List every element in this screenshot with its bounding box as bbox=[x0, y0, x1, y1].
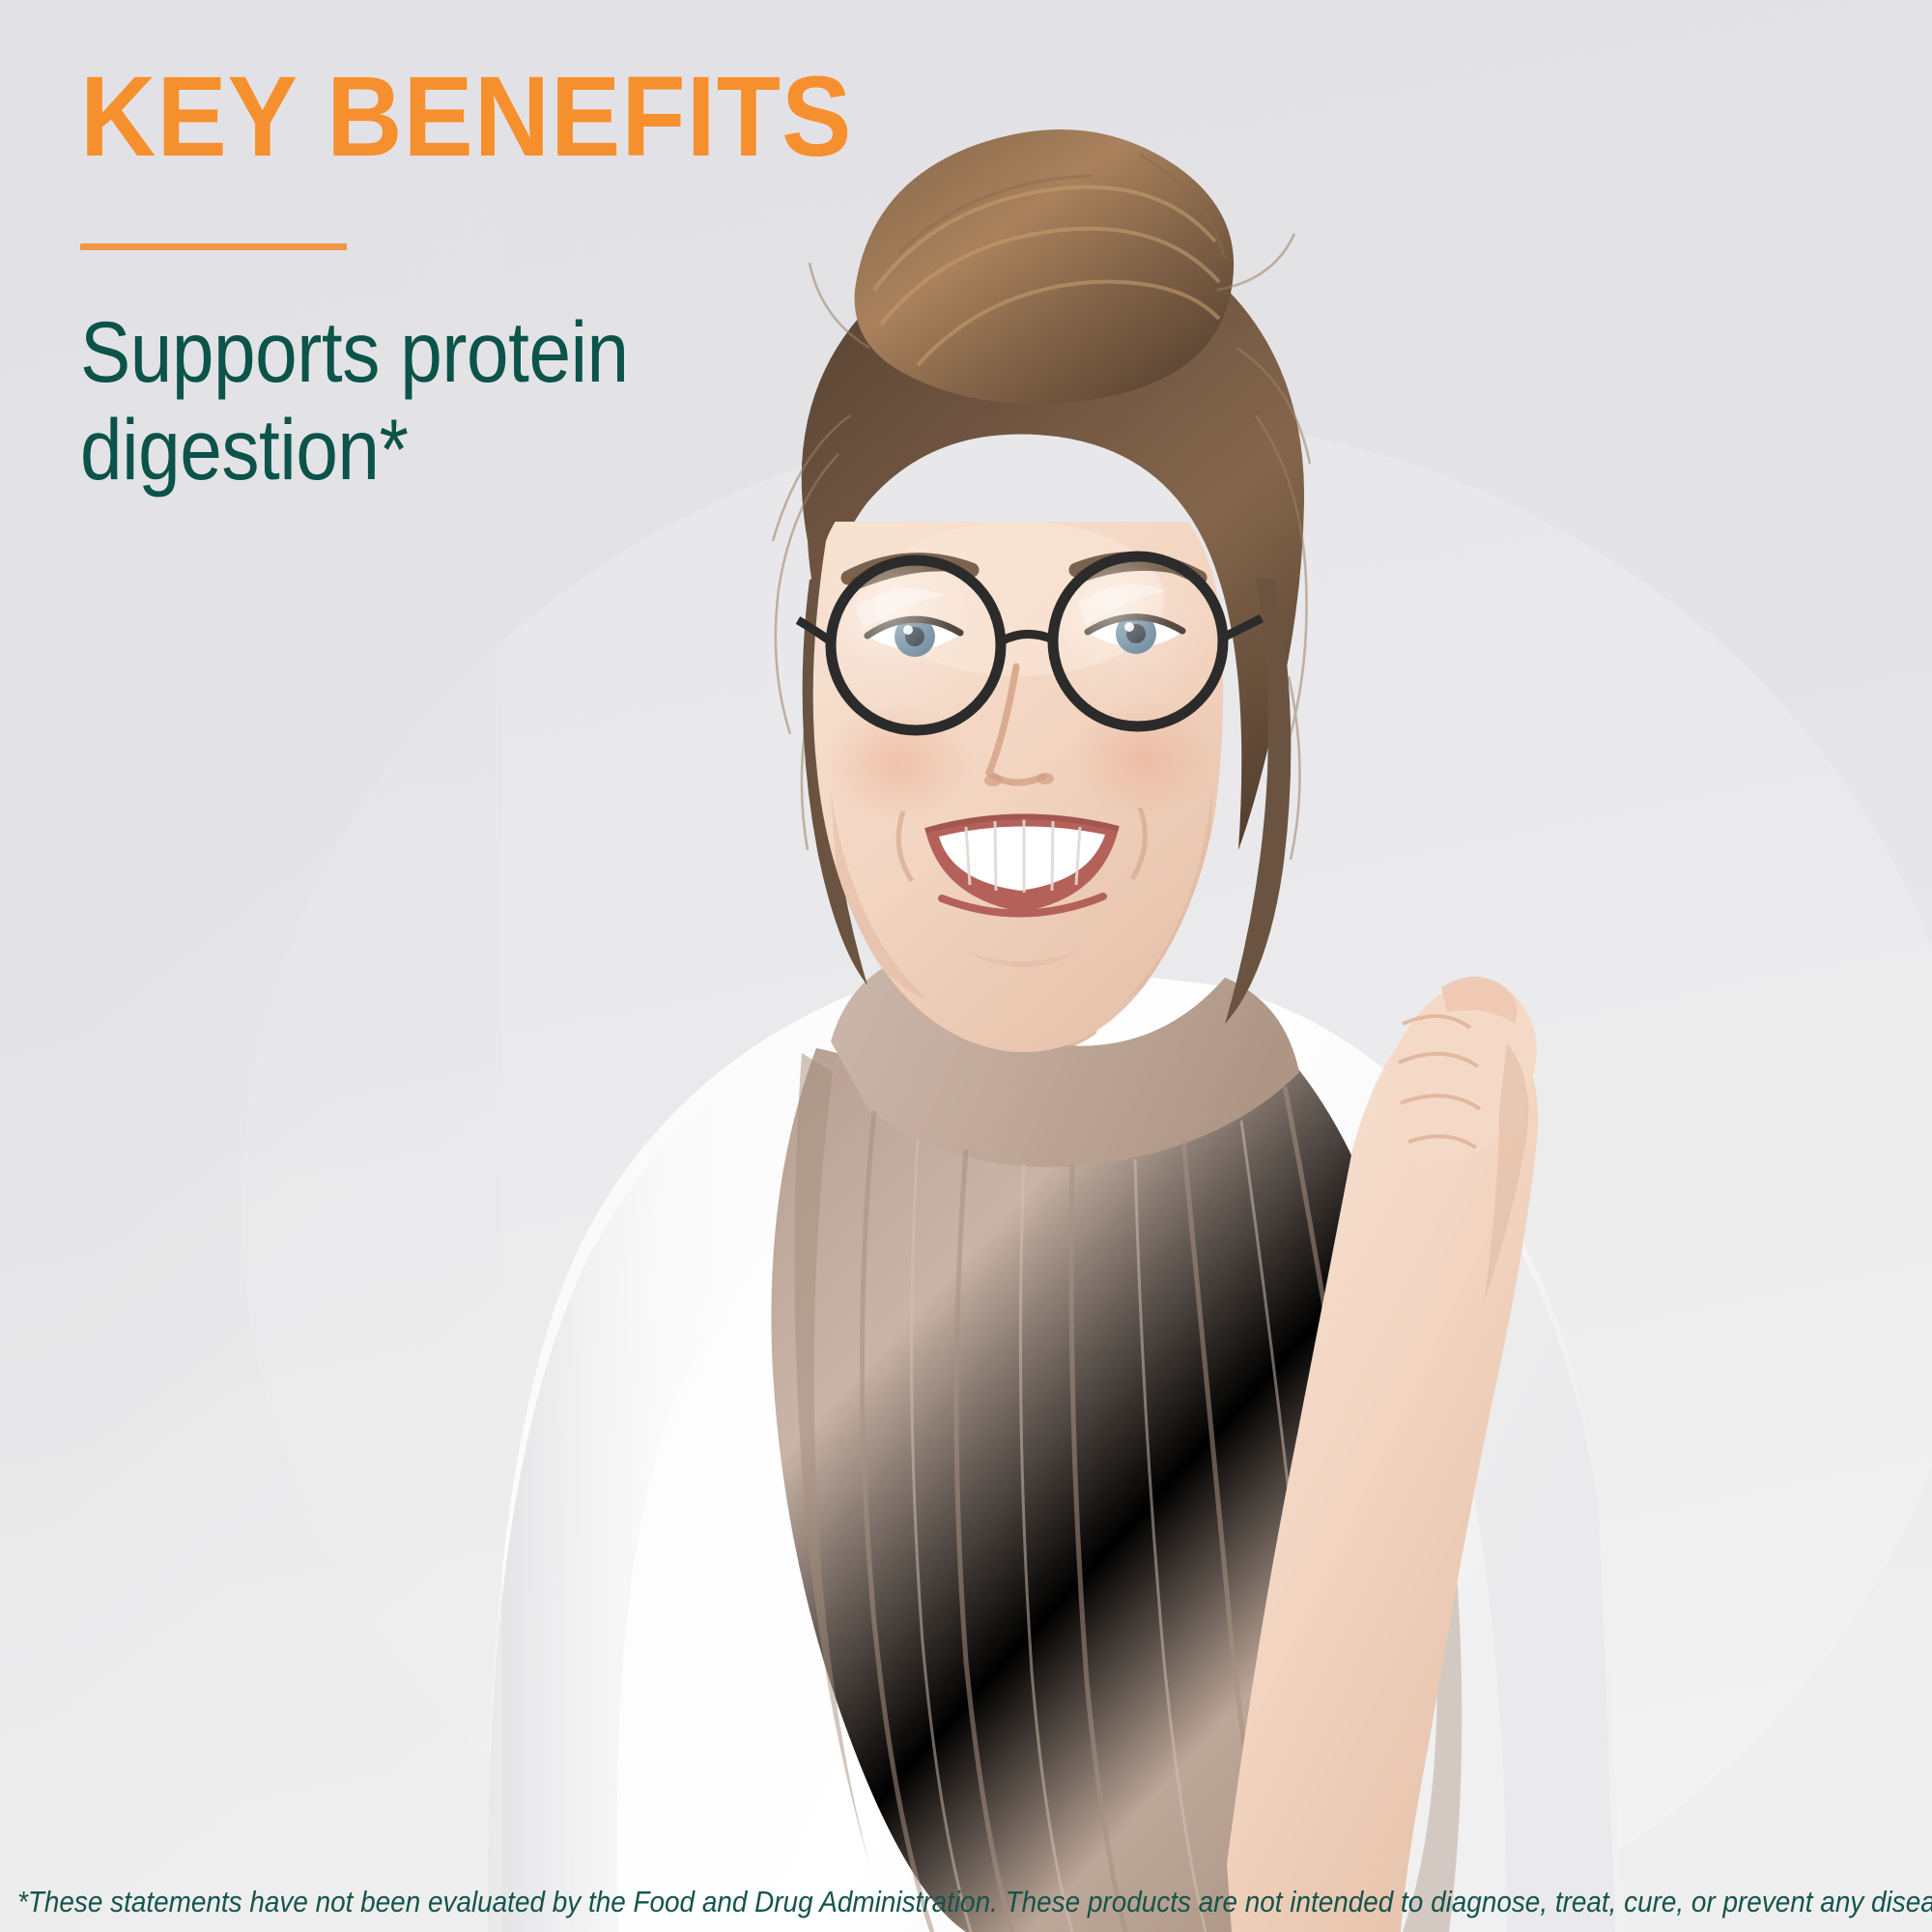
fda-disclaimer: *These statements have not been evaluate… bbox=[17, 1886, 1735, 1918]
title-divider bbox=[80, 243, 347, 250]
benefit-statement: Supports protein digestion* bbox=[80, 303, 778, 497]
key-benefits-product-panel: KEY BENEFITS Supports protein digestion*… bbox=[0, 0, 1932, 1932]
headline-block: KEY BENEFITS Supports protein digestion* bbox=[80, 60, 872, 497]
mouth bbox=[925, 816, 1119, 913]
page-title: KEY BENEFITS bbox=[80, 60, 809, 174]
